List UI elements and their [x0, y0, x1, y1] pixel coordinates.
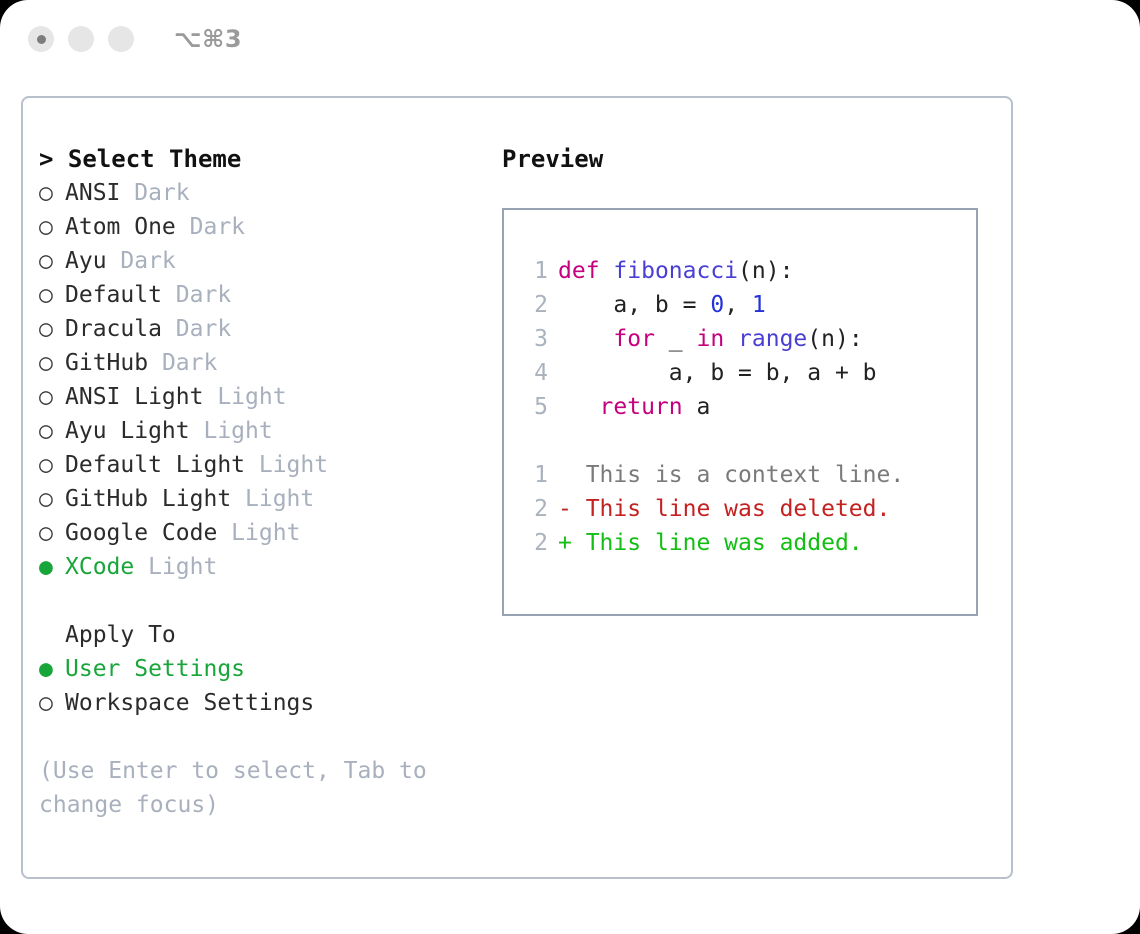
line-number: 2 — [522, 288, 548, 322]
record-dot-icon — [37, 35, 46, 44]
line-number: 1 — [522, 254, 548, 288]
radio-unselected-icon: ○ — [39, 686, 65, 720]
radio-selected-icon: ● — [39, 652, 65, 686]
code-token — [558, 326, 613, 352]
code-token: in — [696, 326, 724, 352]
theme-option-kind: Dark — [107, 248, 176, 274]
theme-option-label: ANSI — [65, 180, 120, 206]
diff-block: 1 This is a context line.2- This line wa… — [522, 458, 976, 560]
theme-option-label: GitHub — [65, 350, 148, 376]
diff-sign: - — [558, 496, 586, 522]
theme-option-github-light[interactable]: ○GitHub Light Light — [39, 482, 489, 516]
theme-option-label: Dracula — [65, 316, 162, 342]
theme-option-kind: Light — [203, 384, 286, 410]
radio-unselected-icon: ○ — [39, 278, 65, 312]
theme-option-google-code[interactable]: ○Google Code Light — [39, 516, 489, 550]
theme-option-kind: Dark — [148, 350, 217, 376]
code-token — [600, 258, 614, 284]
radio-unselected-icon: ○ — [39, 516, 65, 550]
theme-option-label: Default Light — [65, 452, 245, 478]
theme-option-ayu[interactable]: ○Ayu Dark — [39, 244, 489, 278]
code-token: , — [724, 292, 752, 318]
code-token: 0 — [710, 292, 724, 318]
diff-text: This line was deleted. — [586, 496, 891, 522]
window-controls — [28, 26, 134, 52]
theme-option-label: Default — [65, 282, 162, 308]
apply-to-list: ●User Settings○Workspace Settings — [39, 652, 489, 720]
diff-line: 1 This is a context line. — [522, 458, 976, 492]
radio-unselected-icon: ○ — [39, 176, 65, 210]
theme-option-default-light[interactable]: ○Default Light Light — [39, 448, 489, 482]
apply-to-option-workspace-settings[interactable]: ○Workspace Settings — [39, 686, 489, 720]
diff-text: This is a context line. — [586, 462, 905, 488]
preview-heading: Preview — [502, 142, 982, 176]
theme-option-kind: Light — [231, 486, 314, 512]
theme-option-kind: Light — [245, 452, 328, 478]
theme-option-kind: Dark — [120, 180, 189, 206]
theme-option-ayu-light[interactable]: ○Ayu Light Light — [39, 414, 489, 448]
theme-option-label: Ayu — [65, 248, 107, 274]
code-token: a, b = — [558, 292, 710, 318]
theme-option-kind: Dark — [162, 282, 231, 308]
diff-sign: + — [558, 530, 586, 556]
radio-unselected-icon: ○ — [39, 380, 65, 414]
code-line: 4 a, b = b, a + b — [522, 356, 976, 390]
code-token: fibonacci — [613, 258, 738, 284]
theme-list: ○ANSI Dark○Atom One Dark○Ayu Dark○Defaul… — [39, 176, 489, 584]
code-block: 1def fibonacci(n):2 a, b = 0, 13 for _ i… — [522, 254, 976, 424]
code-token: a, b = b, a + b — [558, 360, 877, 386]
line-number: 2 — [522, 492, 548, 526]
theme-option-kind: Light — [190, 418, 273, 444]
list-spacer — [39, 584, 489, 618]
radio-unselected-icon: ○ — [39, 482, 65, 516]
code-token — [558, 394, 600, 420]
theme-option-label: Atom One — [65, 214, 176, 240]
keyboard-shortcut-label: ⌥⌘3 — [174, 25, 242, 53]
line-number: 5 — [522, 390, 548, 424]
heading-label: Select Theme — [68, 145, 241, 173]
code-token: a — [683, 394, 711, 420]
traffic-light-close[interactable] — [28, 26, 54, 52]
diff-line: 2+ This line was added. — [522, 526, 976, 560]
line-number: 3 — [522, 322, 548, 356]
theme-option-label: Ayu Light — [65, 418, 190, 444]
radio-selected-icon: ● — [39, 550, 65, 584]
code-preview-box: 1def fibonacci(n):2 a, b = 0, 13 for _ i… — [502, 208, 978, 616]
theme-option-dracula[interactable]: ○Dracula Dark — [39, 312, 489, 346]
theme-option-label: XCode — [65, 554, 134, 580]
code-line: 3 for _ in range(n): — [522, 322, 976, 356]
apply-to-option-label: Workspace Settings — [65, 690, 314, 716]
radio-unselected-icon: ○ — [39, 448, 65, 482]
traffic-light-minimize[interactable] — [68, 26, 94, 52]
line-number: 2 — [522, 526, 548, 560]
theme-option-github[interactable]: ○GitHub Dark — [39, 346, 489, 380]
theme-option-default[interactable]: ○Default Dark — [39, 278, 489, 312]
code-line: 5 return a — [522, 390, 976, 424]
code-token: _ — [655, 326, 697, 352]
line-number: 4 — [522, 356, 548, 390]
theme-option-kind: Dark — [162, 316, 231, 342]
traffic-light-maximize[interactable] — [108, 26, 134, 52]
code-token: 1 — [752, 292, 766, 318]
select-theme-heading: > Select Theme — [39, 142, 489, 176]
code-line: 1def fibonacci(n): — [522, 254, 976, 288]
apply-to-option-label: User Settings — [65, 656, 245, 682]
theme-option-label: Google Code — [65, 520, 217, 546]
code-line: 2 a, b = 0, 1 — [522, 288, 976, 322]
theme-option-kind: Dark — [176, 214, 245, 240]
theme-option-label: GitHub Light — [65, 486, 231, 512]
code-token: for — [613, 326, 655, 352]
keyboard-hint: (Use Enter to select, Tab to change focu… — [39, 754, 439, 822]
code-token: range — [738, 326, 807, 352]
radio-unselected-icon: ○ — [39, 312, 65, 346]
diff-sign — [558, 462, 586, 488]
theme-option-kind: Light — [134, 554, 217, 580]
app-window: ⌥⌘3 > Select Theme ○ANSI Dark○Atom One D… — [0, 0, 1140, 934]
code-token — [724, 326, 738, 352]
code-token: def — [558, 258, 600, 284]
code-token: (n): — [807, 326, 862, 352]
apply-to-heading: Apply To — [39, 618, 489, 652]
code-blank-separator — [522, 424, 976, 458]
diff-text: This line was added. — [586, 530, 863, 556]
theme-option-xcode[interactable]: ●XCode Light — [39, 550, 489, 584]
title-bar: ⌥⌘3 — [0, 0, 1140, 78]
code-token: (n): — [738, 258, 793, 284]
heading-prefix: > — [39, 145, 68, 173]
theme-selector-column: > Select Theme ○ANSI Dark○Atom One Dark○… — [39, 142, 489, 822]
code-token: return — [600, 394, 683, 420]
theme-option-kind: Light — [217, 520, 300, 546]
radio-unselected-icon: ○ — [39, 346, 65, 380]
theme-option-atom-one[interactable]: ○Atom One Dark — [39, 210, 489, 244]
theme-option-ansi[interactable]: ○ANSI Dark — [39, 176, 489, 210]
theme-option-label: ANSI Light — [65, 384, 203, 410]
diff-line: 2- This line was deleted. — [522, 492, 976, 526]
radio-unselected-icon: ○ — [39, 210, 65, 244]
theme-option-ansi-light[interactable]: ○ANSI Light Light — [39, 380, 489, 414]
radio-unselected-icon: ○ — [39, 414, 65, 448]
radio-unselected-icon: ○ — [39, 244, 65, 278]
preview-column: Preview 1def fibonacci(n):2 a, b = 0, 13… — [502, 142, 982, 616]
line-number: 1 — [522, 458, 548, 492]
main-panel: > Select Theme ○ANSI Dark○Atom One Dark○… — [21, 96, 1013, 879]
apply-to-option-user-settings[interactable]: ●User Settings — [39, 652, 489, 686]
